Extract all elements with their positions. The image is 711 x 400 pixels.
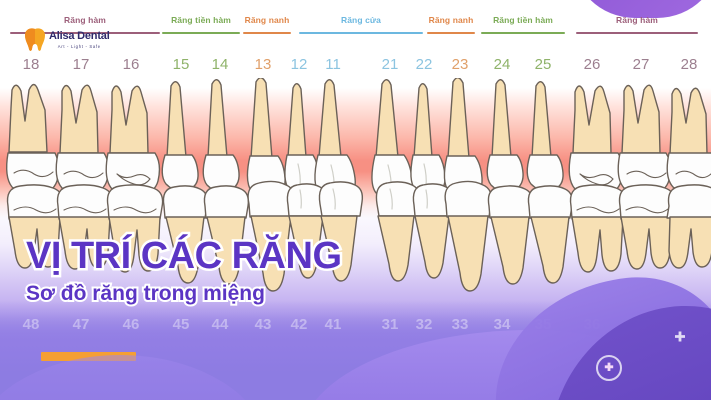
- tooth-number-16: 16: [123, 55, 140, 75]
- tooth-22: [411, 84, 445, 196]
- tooth-number-45: 45: [173, 315, 190, 335]
- tooth-14: [203, 80, 239, 192]
- title-block: VỊ TRÍ CÁC RĂNG Sơ đồ răng trong miệng: [26, 236, 342, 306]
- tooth-17: [56, 85, 108, 195]
- tooth-number-15: 15: [173, 55, 190, 75]
- tooth-icon: [24, 28, 46, 52]
- tooth-number-28: 28: [681, 55, 698, 75]
- category-label: Răng nanh: [243, 16, 291, 25]
- tooth-38: [667, 185, 711, 268]
- tooth-number-27: 27: [633, 55, 650, 75]
- plus-icon: [672, 330, 688, 346]
- category-group-7: Răng hàm: [576, 16, 698, 34]
- tooth-12: [285, 84, 319, 196]
- tooth-25: [527, 82, 563, 191]
- tooth-number-48: 48: [23, 315, 40, 335]
- tooth-number-18: 18: [23, 55, 40, 75]
- tooth-number-25: 25: [535, 55, 552, 75]
- brand-tagline: Art - Light - Safe: [58, 43, 101, 50]
- brand-logo[interactable]: Alisa Dental Art - Light - Safe: [24, 28, 110, 52]
- category-group-6: Răng tiền hàm: [481, 16, 565, 34]
- tooth-number-42: 42: [291, 315, 308, 335]
- tooth-number-11: 11: [325, 55, 341, 75]
- tooth-number-23: 23: [452, 55, 469, 75]
- category-rule: [576, 32, 698, 35]
- category-rule: [299, 32, 423, 35]
- category-rule: [162, 32, 240, 35]
- tooth-16: [106, 86, 159, 197]
- category-label: Răng nanh: [427, 16, 475, 25]
- category-group-3: Răng nanh: [243, 16, 291, 34]
- tooth-number-22: 22: [416, 55, 433, 75]
- tooth-18: [7, 85, 59, 196]
- plus-circle-icon: [596, 355, 622, 381]
- page-subtitle: Sơ đồ răng trong miệng: [26, 282, 342, 306]
- tooth-number-41: 41: [325, 315, 342, 335]
- category-rule: [427, 32, 475, 35]
- tooth-34: [488, 186, 532, 284]
- category-label: Răng tiền hàm: [162, 16, 240, 25]
- category-rule: [481, 32, 565, 35]
- tooth-15: [162, 82, 198, 191]
- tooth-number-26: 26: [584, 55, 601, 75]
- category-label: Răng hàm: [576, 16, 698, 25]
- tooth-number-21: 21: [382, 55, 399, 75]
- tooth-33: [445, 181, 491, 291]
- tooth-36: [571, 185, 626, 272]
- tooth-26: [569, 86, 622, 197]
- tooth-number-43: 43: [255, 315, 272, 335]
- category-group-4: Răng cửa: [299, 16, 423, 34]
- tooth-number-12: 12: [291, 55, 308, 75]
- brand-name: Alisa Dental: [49, 31, 110, 42]
- tooth-number-31: 31: [382, 315, 399, 335]
- category-label: Răng hàm: [10, 16, 160, 25]
- tooth-number-33: 33: [452, 315, 469, 335]
- logo-wordmark: Alisa Dental Art - Light - Safe: [49, 31, 110, 50]
- category-label: Răng tiền hàm: [481, 16, 565, 25]
- tooth-number-47: 47: [73, 315, 90, 335]
- tooth-24: [487, 80, 523, 192]
- tooth-number-32: 32: [416, 315, 433, 335]
- category-group-2: Răng tiền hàm: [162, 16, 240, 34]
- tooth-number-44: 44: [212, 315, 229, 335]
- tooth-number-14: 14: [212, 55, 229, 75]
- tooth-27: [618, 85, 670, 195]
- tooth-28: [667, 88, 711, 194]
- tooth-35: [528, 186, 572, 283]
- category-label: Răng cửa: [299, 16, 423, 25]
- tooth-37: [620, 185, 675, 269]
- tooth-number-46: 46: [123, 315, 140, 335]
- category-group-5: Răng nanh: [427, 16, 475, 34]
- upper-tooth-number-row: 18171615141312112122232425262728: [0, 55, 711, 77]
- category-rule: [243, 32, 291, 35]
- tooth-number-17: 17: [73, 55, 90, 75]
- tooth-number-13: 13: [255, 55, 272, 75]
- tooth-number-24: 24: [494, 55, 511, 75]
- page-title: VỊ TRÍ CÁC RĂNG: [26, 236, 342, 276]
- poster-canvas: .rt { fill:#f7e0b4; stroke:#6b6158; stro…: [0, 0, 711, 400]
